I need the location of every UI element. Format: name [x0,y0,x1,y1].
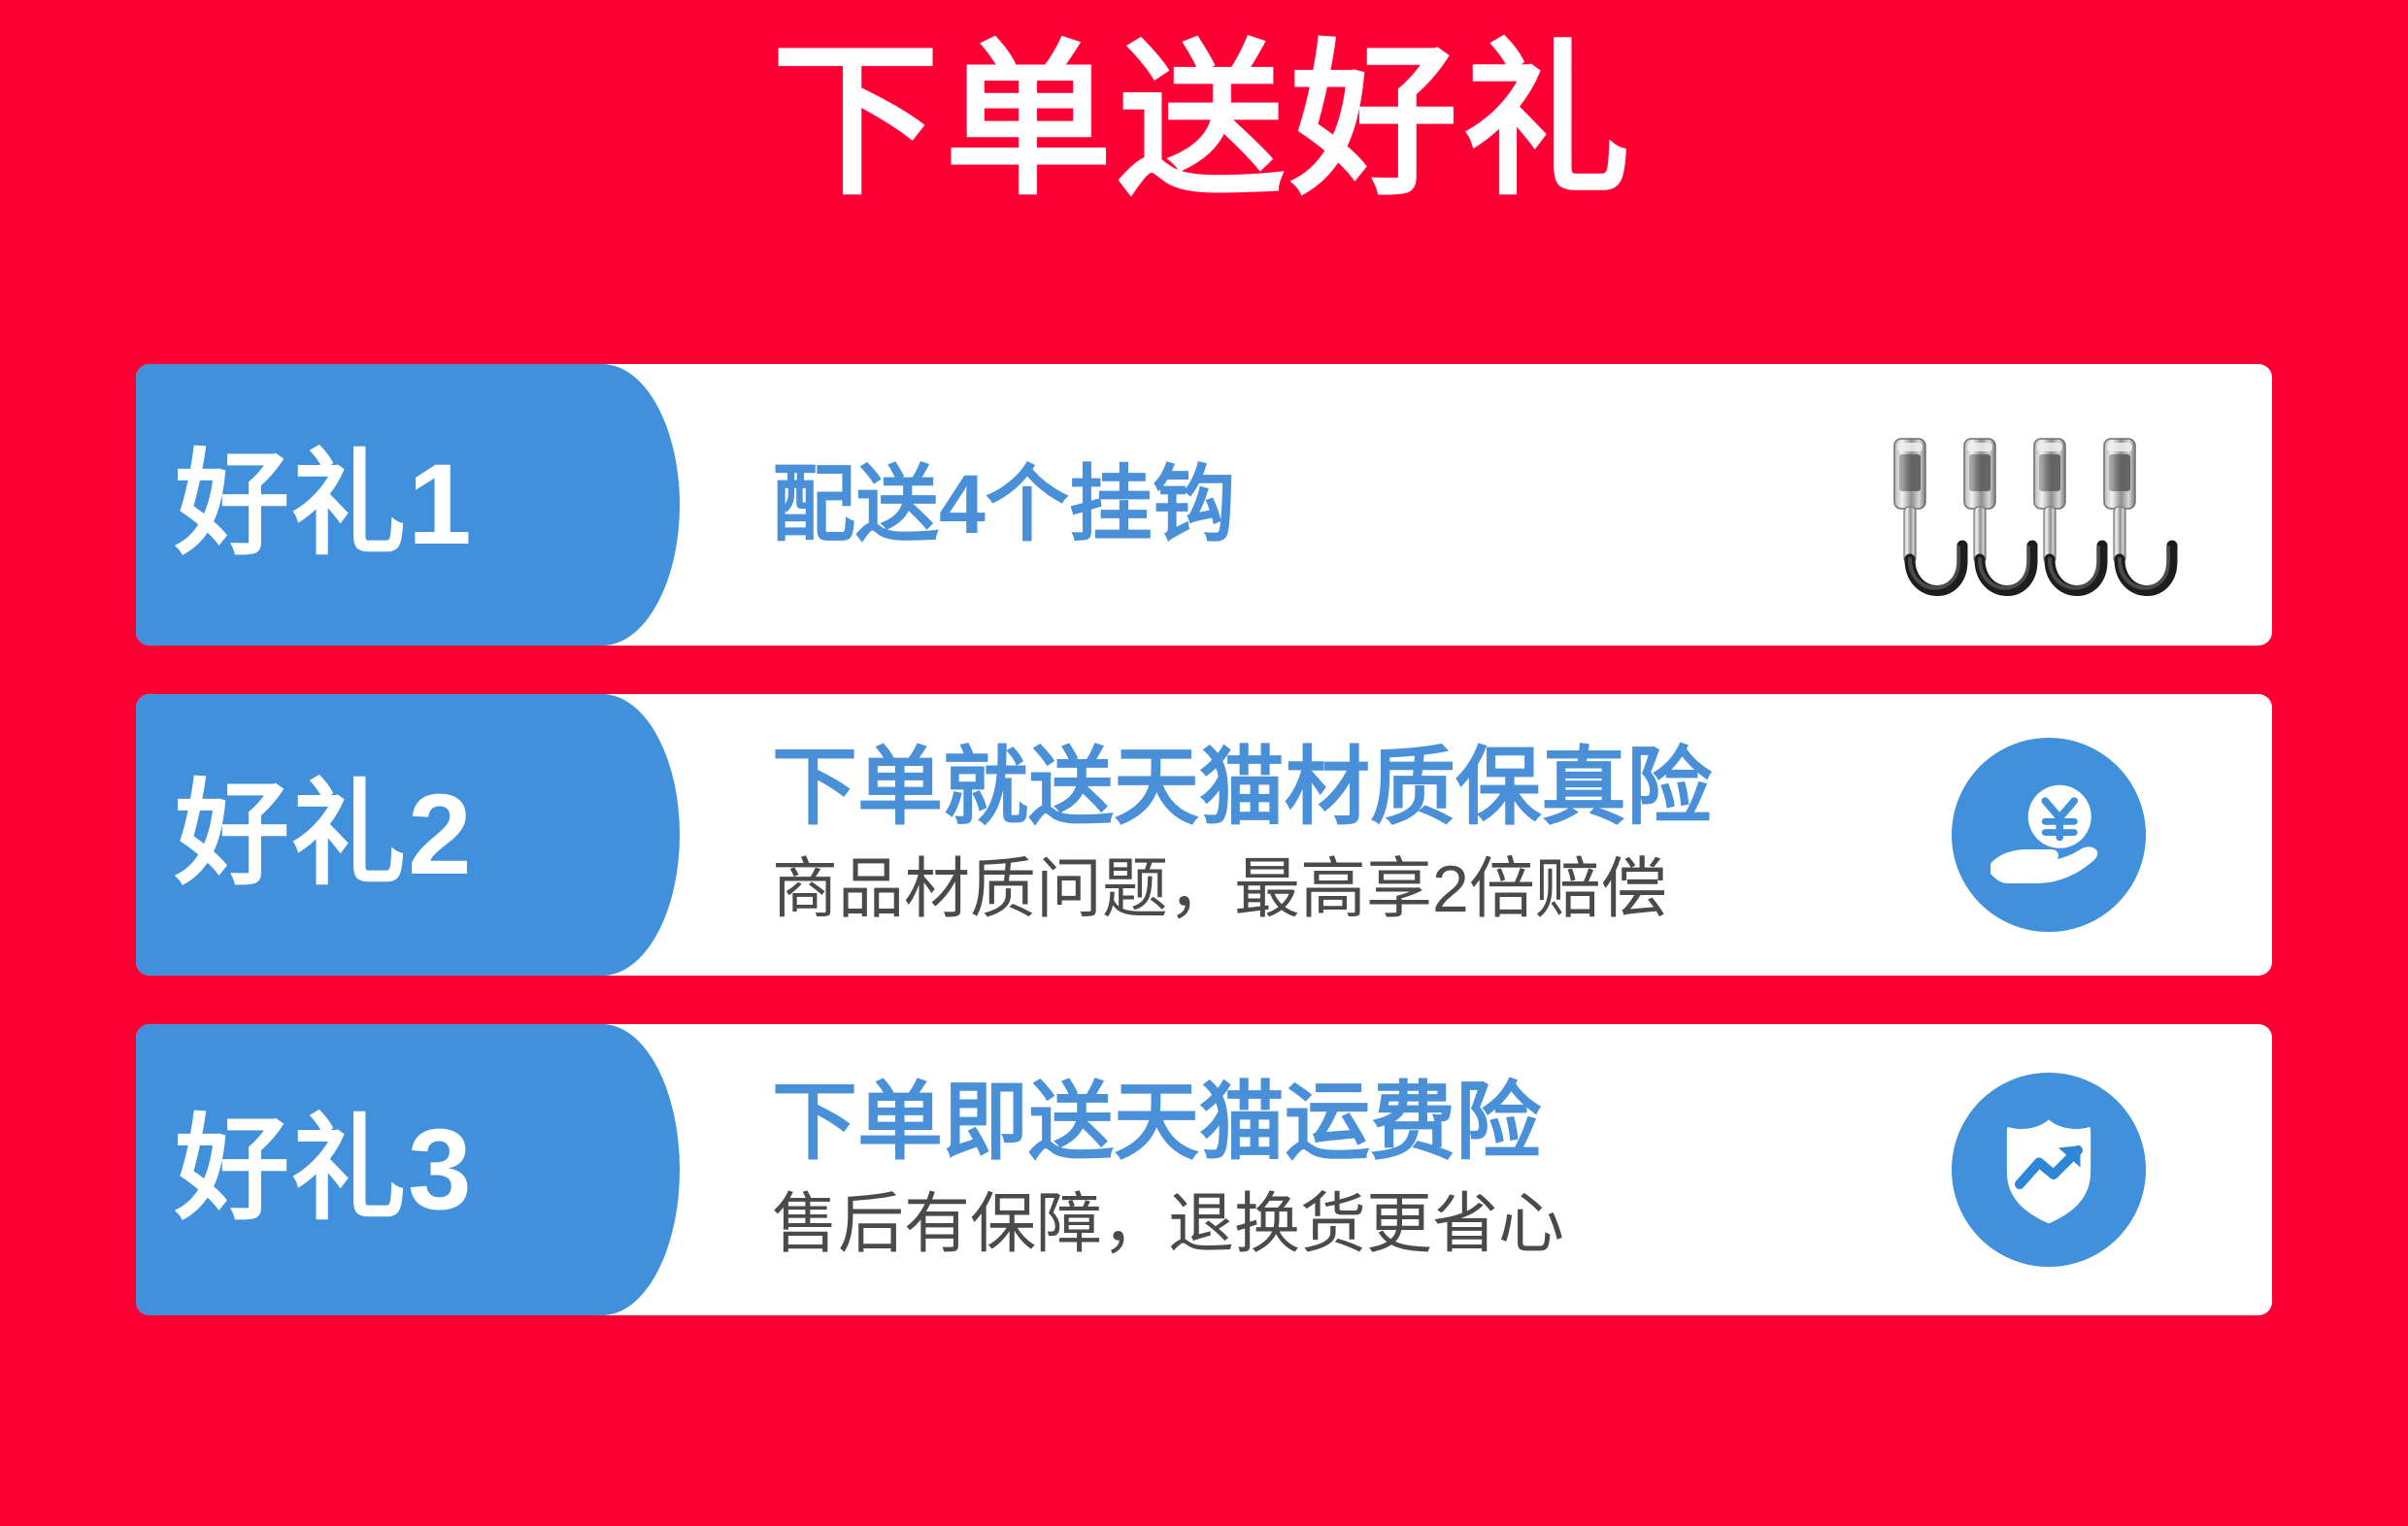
gift-badge-label: 好礼3 [175,1112,474,1227]
gift-card-1-body: 配送4个挂钩 [602,364,1864,646]
gift-card-1-icon-area [1864,364,2272,646]
hand-holding-yuan-coin-icon [1952,738,2146,932]
page-title: 下单送好礼 [772,38,1636,205]
gift-badge-2: 好礼2 [136,694,602,976]
four-hooks-icon [1889,413,2209,597]
gift-card-2-icon-area [1864,694,2272,976]
gift-badge-3: 好礼3 [136,1024,602,1315]
gift-card-3-title: 下单即送天猫运费险 [772,1075,1864,1171]
shield-trending-up-icon [1952,1073,2146,1267]
gift-card-1-title: 配送4个挂钩 [772,458,1864,551]
gift-card-2-title: 下单就送天猫材质保真险 [772,740,1864,836]
gift-badge-label: 好礼1 [175,448,474,562]
gift-card-2-body: 下单就送天猫材质保真险 商品材质问题，最高享2倍赔偿 [602,694,1864,976]
gift-card-2-subtitle: 商品材质问题，最高享2倍赔偿 [772,850,1864,930]
gift-card-list: 好礼1 配送4个挂钩 [136,364,2272,1315]
gift-badge-1: 好礼1 [136,364,602,646]
gift-badge-label: 好礼2 [175,778,474,892]
gift-card-2[interactable]: 好礼2 下单就送天猫材质保真险 商品材质问题，最高享2倍赔偿 [136,694,2272,976]
gift-card-3-icon-area [1864,1024,2272,1315]
page-header: 下单送好礼 [0,0,2408,243]
gift-card-1[interactable]: 好礼1 配送4个挂钩 [136,364,2272,646]
gift-card-3-subtitle: 售后有保障，退换货更省心 [772,1185,1864,1265]
gift-card-3-body: 下单即送天猫运费险 售后有保障，退换货更省心 [602,1024,1864,1315]
gift-card-3[interactable]: 好礼3 下单即送天猫运费险 售后有保障，退换货更省心 [136,1024,2272,1315]
